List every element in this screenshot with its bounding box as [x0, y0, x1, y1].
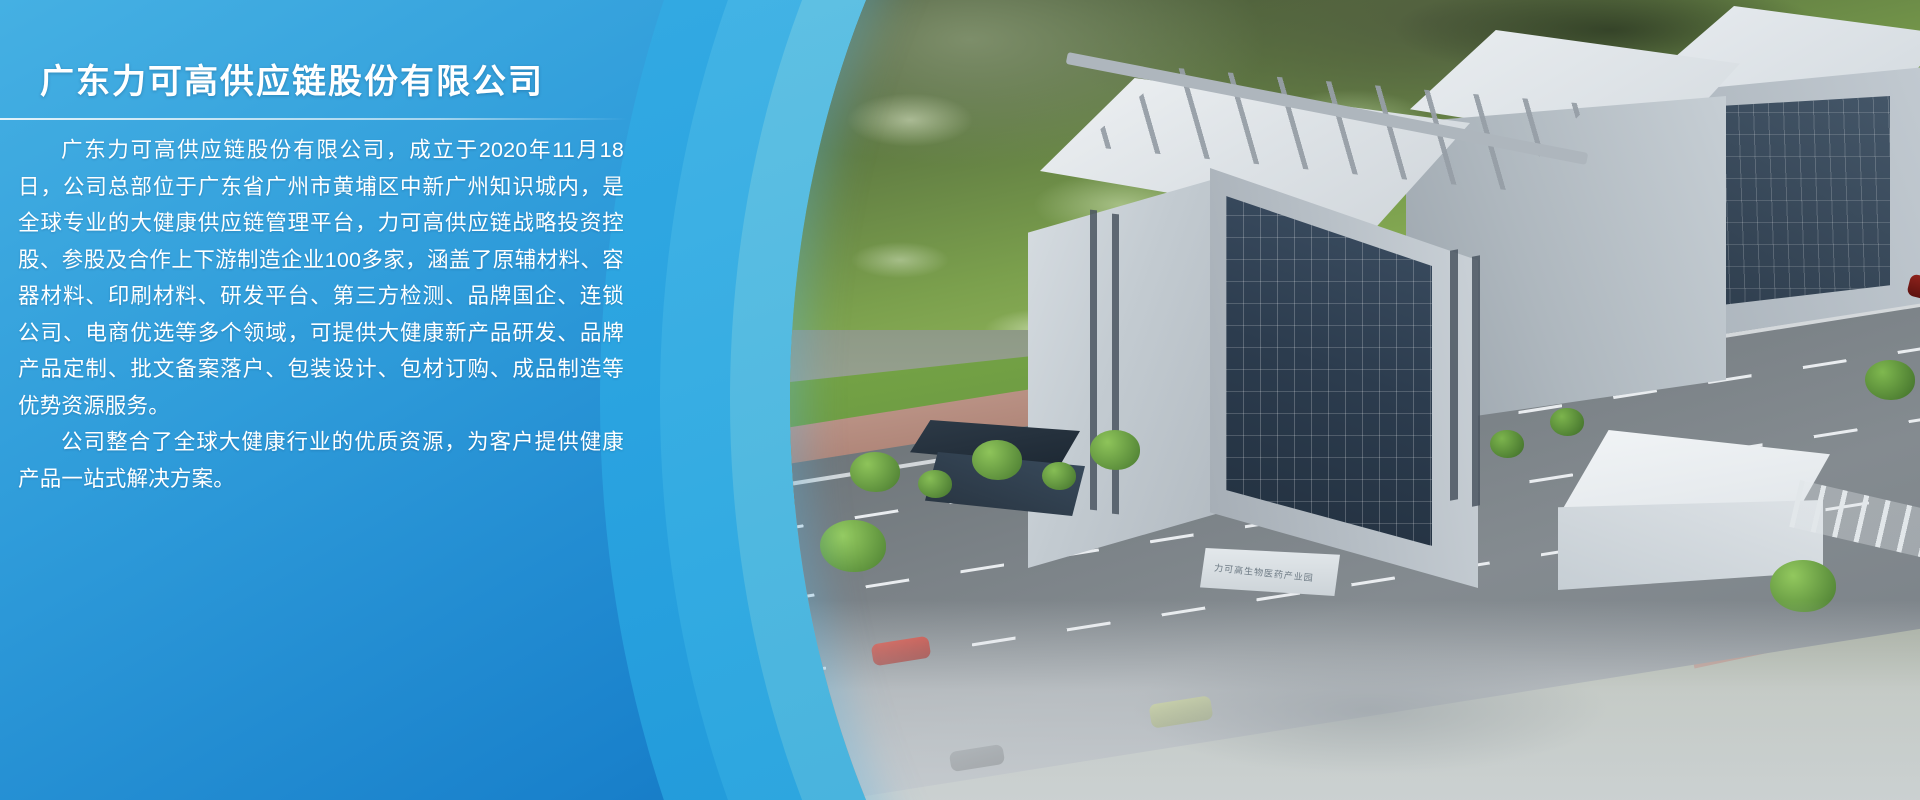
- tree: [1042, 462, 1076, 490]
- facade-slit: [1450, 249, 1458, 500]
- campus-photo: 力可高生物医药产业园: [790, 0, 1920, 800]
- promo-banner: 力可高生物医药产业园: [0, 0, 1920, 800]
- paragraph-1: 广东力可高供应链股份有限公司，成立于2020年11月18日，公司总部位于广东省广…: [18, 132, 624, 424]
- page-title: 广东力可高供应链股份有限公司: [40, 54, 544, 103]
- company-description: 广东力可高供应链股份有限公司，成立于2020年11月18日，公司总部位于广东省广…: [18, 132, 624, 497]
- title-divider: [0, 118, 628, 120]
- tree: [1865, 360, 1915, 400]
- road-mist: [1050, 620, 1690, 800]
- intro-text-panel: 广东力可高供应链股份有限公司 广东力可高供应链股份有限公司，成立于2020年11…: [0, 0, 640, 800]
- tree: [918, 470, 952, 498]
- tree: [820, 520, 886, 572]
- facade-slit: [1472, 255, 1480, 506]
- tree: [1490, 430, 1524, 458]
- paragraph-2: 公司整合了全球大健康行业的优质资源，为客户提供健康产品一站式解决方案。: [18, 424, 624, 497]
- tree: [972, 440, 1022, 480]
- tree: [1090, 430, 1140, 470]
- facade-slit: [1090, 210, 1097, 511]
- tree: [850, 452, 900, 492]
- tree: [1550, 408, 1584, 436]
